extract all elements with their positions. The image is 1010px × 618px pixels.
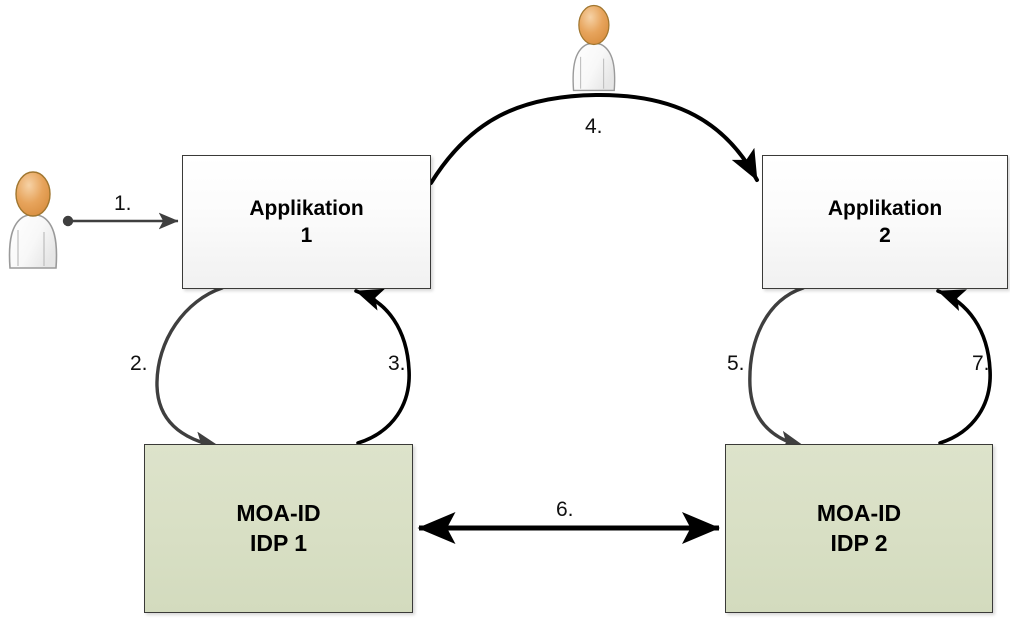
person-icon (562, 2, 624, 94)
edge-label-step-1: 1. (114, 192, 132, 216)
edge-label-step-3: 3. (388, 352, 406, 376)
node-label-line1: MOA-ID (817, 499, 901, 529)
node-moa-id-idp-1[interactable]: MOA-ID IDP 1 (144, 444, 413, 613)
diagram-canvas: Applikation 1 Applikation 2 MOA-ID IDP 1… (0, 0, 1010, 618)
edge-label-step-6: 6. (556, 498, 574, 522)
node-applikation-2[interactable]: Applikation 2 (762, 155, 1008, 289)
edge-label-step-7: 7. (972, 352, 990, 376)
node-moa-id-idp-2[interactable]: MOA-ID IDP 2 (725, 444, 993, 613)
user-left-actor (4, 168, 60, 277)
edge-5-app2-to-idp2 (750, 288, 805, 447)
node-label-line1: Applikation (828, 195, 942, 222)
node-applikation-1[interactable]: Applikation 1 (182, 155, 431, 289)
edge-2-app1-to-idp1 (157, 288, 222, 447)
node-label-line1: MOA-ID (236, 499, 320, 529)
edge-label-step-5: 5. (727, 352, 745, 376)
node-label-line2: IDP 2 (830, 529, 887, 559)
user-top-actor (562, 2, 624, 99)
node-label-line2: 1 (301, 222, 313, 249)
node-label-line2: IDP 1 (250, 529, 307, 559)
node-label-line1: Applikation (249, 195, 363, 222)
edge-label-step-4: 4. (585, 115, 603, 139)
node-label-line2: 2 (879, 222, 891, 249)
person-icon (4, 168, 60, 272)
edge-label-step-2: 2. (130, 352, 148, 376)
